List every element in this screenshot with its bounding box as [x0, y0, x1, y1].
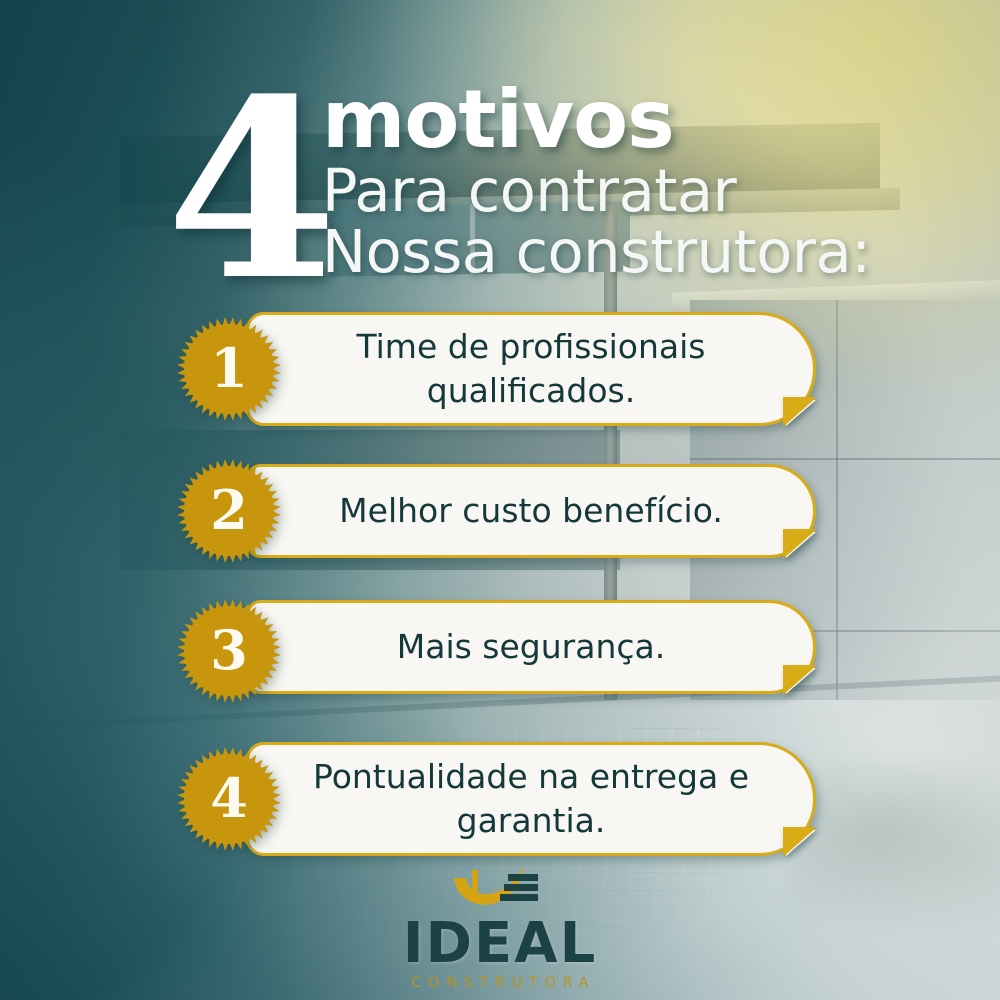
reason-badge: 4: [176, 746, 282, 852]
brand-logo: IDEAL CONSTRUTORA: [0, 862, 1000, 991]
reason-badge: 3: [176, 598, 282, 704]
headline-subtitle-line-2: Nossa construtora:: [322, 222, 871, 281]
reasons-list: Time de profissionais qualificados. 1 Me…: [0, 300, 1000, 860]
headline-number: 4: [166, 68, 331, 314]
headline-subtitle-line-1: Para contratar: [322, 161, 871, 220]
bubble-tail: [786, 400, 816, 426]
logo-tagline: CONSTRUTORA: [0, 975, 1000, 991]
reason-number: 2: [176, 458, 282, 564]
list-item: Pontualidade na entrega e garantia. 4: [0, 720, 1000, 860]
bubble-tail: [786, 532, 816, 558]
reason-text: Pontualidade na entrega e garantia.: [249, 755, 813, 842]
reason-bubble: Time de profissionais qualificados.: [246, 312, 816, 426]
reason-number: 4: [176, 746, 282, 852]
bubble-tail: [786, 830, 816, 856]
reason-text: Time de profissionais qualificados.: [249, 325, 813, 412]
reason-badge: 1: [176, 316, 282, 422]
reason-bubble: Pontualidade na entrega e garantia.: [246, 742, 816, 856]
logo-wordmark: IDEAL: [0, 916, 1000, 972]
reason-text: Mais segurança.: [249, 625, 813, 669]
headline-text-group: motivos Para contratar Nossa construtora…: [322, 82, 871, 281]
logo-mark: [446, 862, 554, 914]
bubble-tail: [786, 668, 816, 694]
gold-swoosh-building-bars-icon: [446, 862, 554, 914]
reason-number: 1: [176, 316, 282, 422]
headline-word: motivos: [322, 82, 871, 159]
reason-bubble: Melhor custo benefício.: [246, 464, 816, 558]
headline-block: 4 motivos Para contratar Nossa construto…: [0, 74, 1000, 294]
reason-text: Melhor custo benefício.: [249, 489, 813, 533]
reason-number: 3: [176, 598, 282, 704]
promo-poster: 4 motivos Para contratar Nossa construto…: [0, 0, 1000, 1000]
list-item: Mais segurança. 3: [0, 580, 1000, 720]
list-item: Time de profissionais qualificados. 1: [0, 300, 1000, 440]
reason-bubble: Mais segurança.: [246, 600, 816, 694]
list-item: Melhor custo benefício. 2: [0, 440, 1000, 580]
reason-badge: 2: [176, 458, 282, 564]
